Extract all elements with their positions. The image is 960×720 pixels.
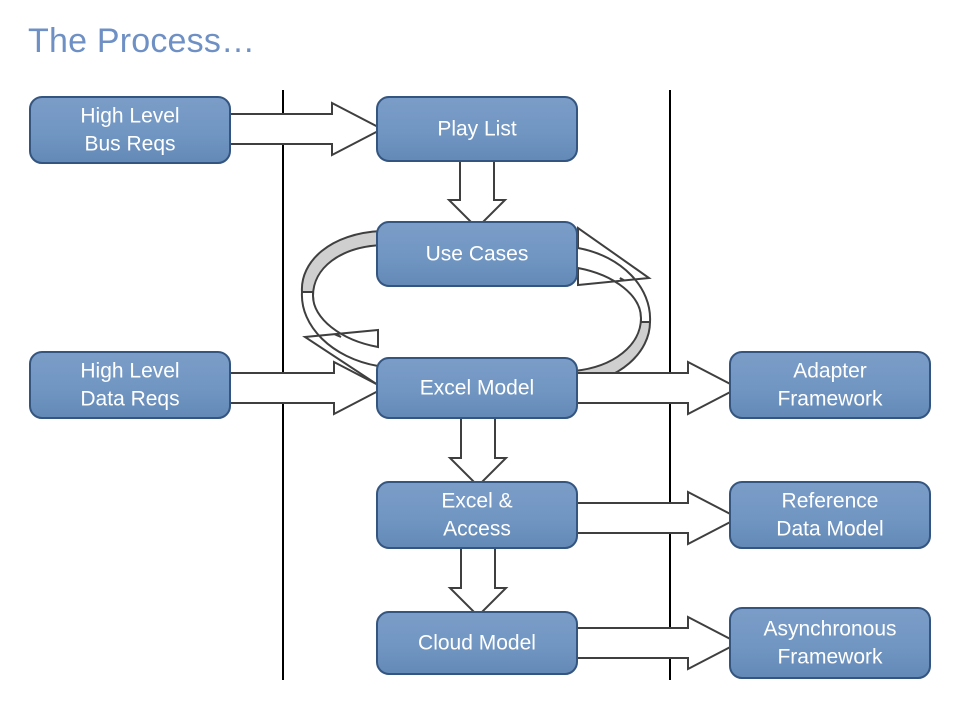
connector-excel-model-to-use-cases-head	[578, 228, 650, 322]
node-reference-data-model[interactable]: Reference Data Model	[730, 482, 930, 548]
node-use-cases[interactable]: Use Cases	[377, 222, 577, 286]
connector-excel-model-to-excel-access	[450, 414, 506, 486]
connector-play-list-to-use-cases	[449, 156, 505, 228]
node-excel-model[interactable]: Excel Model	[377, 358, 577, 418]
node-cloud-model[interactable]: Cloud Model	[377, 612, 577, 674]
connector-excel-access-to-reference	[572, 492, 738, 544]
node-label-line: Excel &	[441, 490, 512, 513]
node-label-line: Adapter	[793, 360, 867, 383]
node-label-line: Data Reqs	[80, 388, 179, 411]
node-label-line: Use Cases	[426, 243, 529, 266]
node-label-line: Play List	[437, 118, 517, 141]
process-diagram: High Level Bus Reqs Play List Use Cases …	[0, 0, 960, 720]
node-label-line: Bus Reqs	[84, 133, 175, 156]
node-label-line: Data Model	[776, 518, 883, 541]
node-excel-and-access[interactable]: Excel & Access	[377, 482, 577, 548]
node-label-line: High Level	[80, 360, 179, 383]
node-label-line: Access	[443, 518, 511, 541]
slide-canvas: The Process…	[0, 0, 960, 720]
node-label-line: High Level	[80, 105, 179, 128]
connector-bus-reqs-to-play-list	[225, 103, 382, 155]
node-asynchronous-framework[interactable]: Asynchronous Framework	[730, 608, 930, 678]
node-adapter-framework[interactable]: Adapter Framework	[730, 352, 930, 418]
node-label-line: Cloud Model	[418, 632, 536, 655]
node-label-line: Framework	[777, 388, 883, 411]
node-label-line: Asynchronous	[763, 618, 896, 641]
node-high-level-data-reqs[interactable]: High Level Data Reqs	[30, 352, 230, 418]
node-label-line: Framework	[777, 646, 883, 669]
node-label-line: Excel Model	[420, 377, 534, 400]
node-play-list[interactable]: Play List	[377, 97, 577, 161]
node-label-line: Reference	[782, 490, 879, 513]
node-high-level-bus-reqs[interactable]: High Level Bus Reqs	[30, 97, 230, 163]
connector-excel-access-to-cloud-model	[450, 544, 506, 616]
connector-cloud-model-to-async	[572, 617, 738, 669]
